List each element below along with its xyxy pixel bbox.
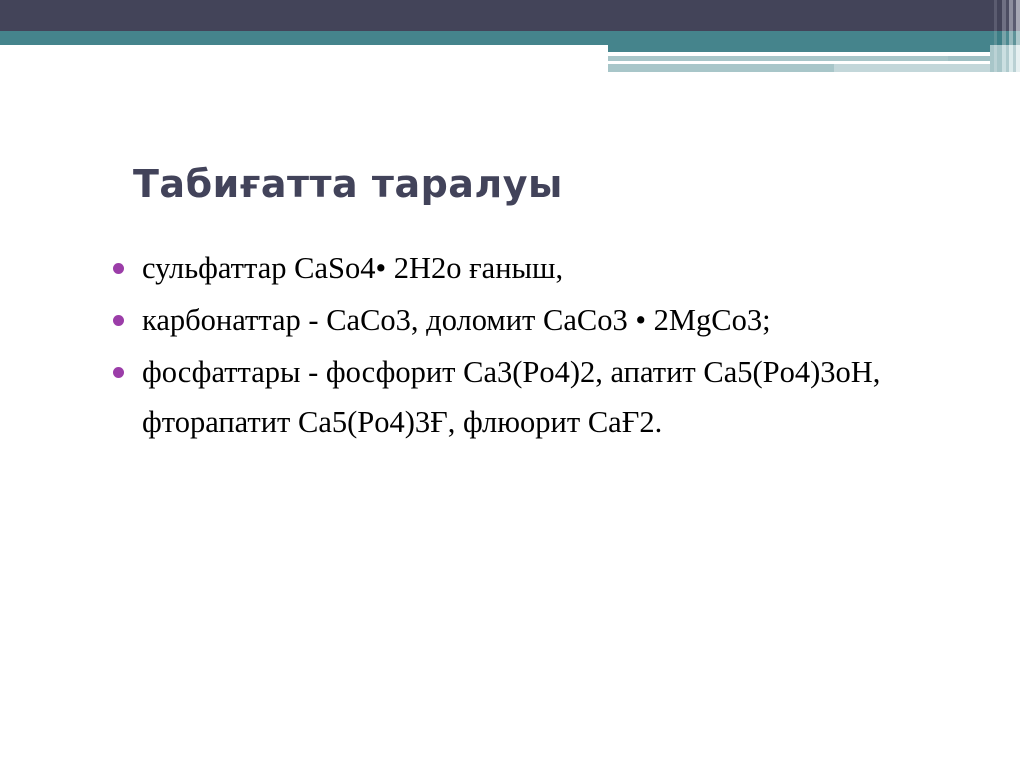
bullet-dot-icon (113, 367, 124, 378)
page-title: Табиғатта таралуы (133, 161, 893, 207)
list-item: карбонаттар - CaCo3, доломит CaCo3 • 2Mg… (104, 295, 924, 345)
slide-canvas: Табиғатта таралуы сульфаттар CaSo4• 2H2o… (0, 0, 1024, 767)
list-item-text: сульфаттар CaSo4• 2H2o ғаныш, (142, 243, 924, 293)
header-band-teal-step (608, 45, 1024, 52)
header-band-pale-bar-two (608, 64, 834, 72)
right-edge-stripes (990, 0, 1024, 72)
header-band-dark (0, 0, 1024, 31)
bullet-dot-icon (113, 263, 124, 274)
header-band-teal (0, 31, 1024, 45)
list-item-text: фосфаттары - фосфорит Ca3(Po4)2, апатит … (142, 347, 924, 447)
list-item-text: карбонаттар - CaCo3, доломит CaCo3 • 2Mg… (142, 295, 924, 345)
list-item: сульфаттар CaSo4• 2H2o ғаныш, (104, 243, 924, 293)
header-decoration (0, 0, 1024, 80)
list-item: фосфаттары - фосфорит Ca3(Po4)2, апатит … (104, 347, 924, 447)
header-band-white-bottom (0, 72, 1024, 80)
right-edge-stripe (1020, 0, 1024, 72)
bullet-list: сульфаттар CaSo4• 2H2o ғаныш, карбонатта… (104, 243, 924, 449)
bullet-dot-icon (113, 315, 124, 326)
